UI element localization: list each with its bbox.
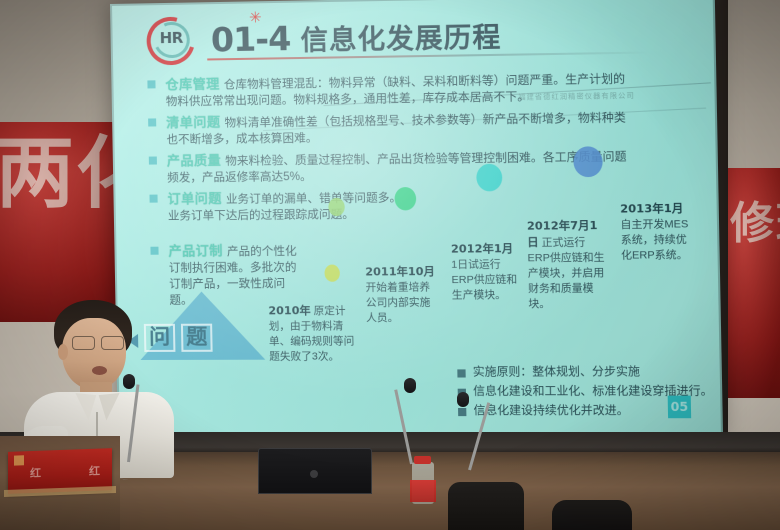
banner-left: 两化融 (0, 122, 122, 322)
presenter-collar-left (73, 393, 97, 421)
nameplate-seal-icon (14, 455, 24, 465)
presenter-ear (58, 344, 68, 360)
projection-screen-surface: HR 01-4 ✳ 信息化发展历程 福建省德红润精密仪器有限公司 (110, 0, 723, 437)
microphone-head-center (404, 378, 416, 393)
presenter-mouth (92, 366, 107, 375)
water-bottle-cap (414, 456, 431, 464)
glasses-icon (72, 336, 124, 349)
presenter-collar-right (99, 393, 123, 421)
laptop-logo-icon (310, 470, 318, 478)
banner-right: 修班 (728, 168, 780, 398)
microphone-head-right (457, 392, 469, 407)
banner-right-shading (728, 168, 780, 398)
chair-back-right (552, 500, 632, 530)
water-bottle-label (410, 480, 436, 502)
nameplate-text: 红 红 (30, 463, 100, 481)
nameplate-char-1: 红 (89, 463, 100, 479)
nameplate-char-0: 红 (30, 465, 41, 481)
presenter-face (62, 318, 126, 390)
banner-left-shading (0, 122, 122, 322)
projection-screen: HR 01-4 ✳ 信息化发展历程 福建省德红润精密仪器有限公司 (110, 0, 723, 437)
scene-root: 两化融 修班 HR 01-4 ✳ 信息化发展历程 (0, 0, 780, 530)
chair-back-left (448, 482, 524, 530)
screen-frame (110, 0, 723, 437)
microphone-head-left (123, 374, 135, 389)
